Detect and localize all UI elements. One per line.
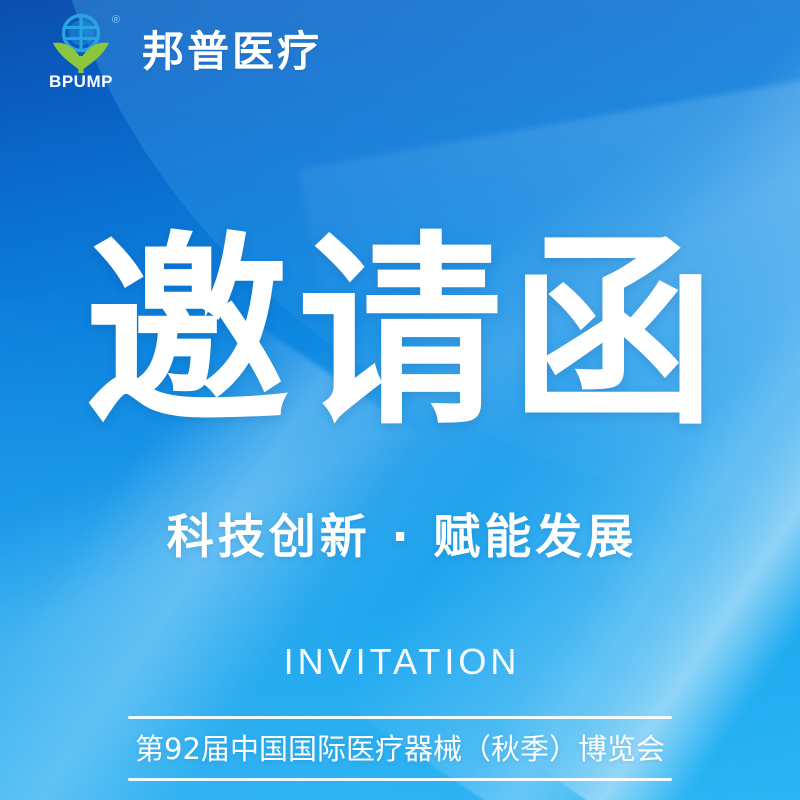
poster-title: 邀请函 [0,232,800,437]
event-name: 第92届中国国际医疗器械（秋季）博览会 [128,719,672,778]
footer-rule-bottom [128,778,672,781]
registered-trademark-icon: ® [112,15,120,26]
bpump-flower-globe-logo: ® BPUMP [44,13,118,91]
logo-wordmark: BPUMP [44,72,118,92]
invitation-poster: ® BPUMP 邦普医疗 邀请函 科技创新 · 赋能发展 INVITATION … [0,0,800,800]
poster-footer: 第92届中国国际医疗器械（秋季）博览会 [128,716,672,781]
poster-subtitle: 科技创新 · 赋能发展 [0,512,800,564]
brand-header: ® BPUMP 邦普医疗 [0,0,800,104]
poster-subtitle-english: INVITATION [0,644,800,680]
footer-rule-top [128,716,672,719]
company-name: 邦普医疗 [142,31,322,73]
logo-graphic [44,13,118,75]
